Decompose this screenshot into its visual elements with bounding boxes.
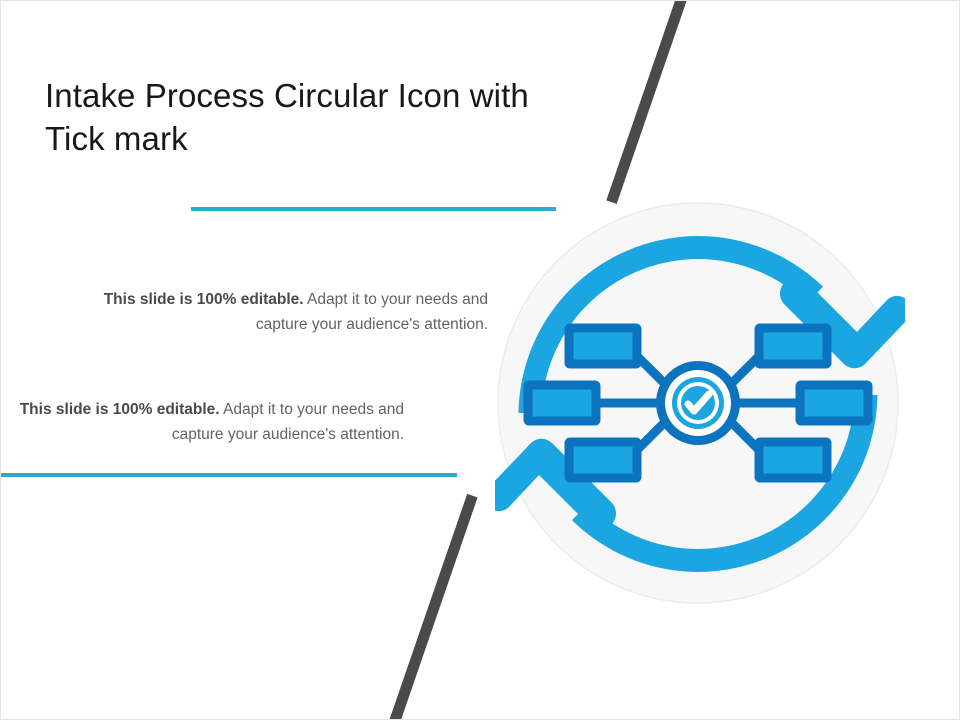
body-paragraph-1-lead: This slide is 100% editable. [104,291,304,308]
slide-canvas: Intake Process Circular Icon with Tick m… [0,0,960,720]
body-paragraph-2-lead: This slide is 100% editable. [20,401,220,418]
process-node-top-right [759,328,827,364]
process-node-middle-right [800,385,868,421]
body-paragraph-2: This slide is 100% editable. Adapt it to… [11,397,404,447]
process-node-bottom-right [759,442,827,478]
process-node-middle-left [528,385,596,421]
central-hub-tick [656,361,740,445]
body-underline-rule [1,473,457,477]
intake-process-circular-icon [495,199,905,611]
diagonal-stripe-top-right [606,0,686,204]
diagonal-stripe-bottom-center [387,494,477,720]
body-paragraph-1: This slide is 100% editable. Adapt it to… [91,287,488,337]
process-node-top-left [569,328,637,364]
process-node-bottom-left [569,442,637,478]
page-title: Intake Process Circular Icon with Tick m… [45,75,575,161]
